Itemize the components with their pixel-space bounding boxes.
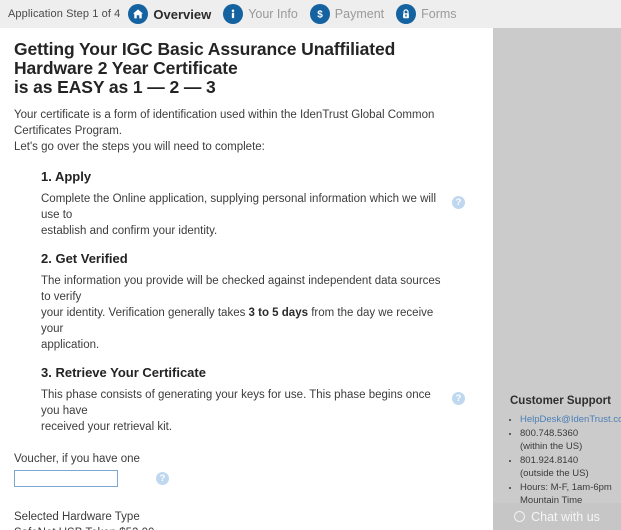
step-tab-payment-label: Payment xyxy=(335,7,384,21)
step-body-retrieve-certificate: This phase consists of generating your k… xyxy=(41,387,441,435)
support-phone-us: 800.748.5360 xyxy=(520,428,578,439)
step-body-apply-line-1: Complete the Online application, supplyi… xyxy=(41,191,441,223)
step-block-get-verified: 2. Get Verified The information you prov… xyxy=(41,251,477,353)
customer-support-title: Customer Support xyxy=(510,395,621,407)
step-body-retrieve-line-1: This phase consists of generating your k… xyxy=(41,387,441,419)
page-title-line-2: Hardware 2 Year Certificate xyxy=(14,59,477,78)
step-body-retrieve-line-2: received your retrieval kit. xyxy=(41,419,441,435)
support-item-email: HelpDesk@IdenTrust.com xyxy=(520,413,621,426)
step-tab-your-info-label: Your Info xyxy=(248,7,298,21)
step-tab-payment[interactable]: $ Payment xyxy=(310,4,384,24)
intro-paragraph: Your certificate is a form of identifica… xyxy=(14,107,477,155)
selected-hardware-type-value: SafeNet USB Token $52.00 xyxy=(14,525,477,530)
main-content: Getting Your IGC Basic Assurance Unaffil… xyxy=(0,28,493,530)
voucher-input[interactable] xyxy=(14,470,118,487)
support-item-phone-intl: 801.924.8140 (outside the US) xyxy=(520,454,621,480)
verification-duration: 3 to 5 days xyxy=(249,307,308,319)
right-sidebar: Customer Support HelpDesk@IdenTrust.com … xyxy=(493,28,621,530)
step-body-verified-line-3: application. xyxy=(41,337,441,353)
voucher-row: ? xyxy=(14,470,477,487)
step-tab-forms[interactable]: Forms xyxy=(396,4,456,24)
chat-with-us-button[interactable]: Chat with us xyxy=(493,503,621,530)
support-hours: Hours: M-F, 1am-6pm xyxy=(520,482,612,493)
chat-with-us-label: Chat with us xyxy=(531,510,600,524)
step-block-retrieve-certificate: 3. Retrieve Your Certificate This phase … xyxy=(41,365,477,435)
step-body-get-verified: The information you provide will be chec… xyxy=(41,273,441,353)
step-tab-your-info[interactable]: Your Info xyxy=(223,4,298,24)
page-title: Getting Your IGC Basic Assurance Unaffil… xyxy=(14,40,477,97)
help-icon-apply[interactable]: ? xyxy=(452,196,465,209)
intro-line-2: Let's go over the steps you will need to… xyxy=(14,139,477,155)
page-title-line-3: is as EASY as 1 — 2 — 3 xyxy=(14,78,477,97)
step-heading-retrieve-certificate: 3. Retrieve Your Certificate xyxy=(41,365,477,380)
lock-icon xyxy=(396,4,416,24)
step-body-verified-line-1: The information you provide will be chec… xyxy=(41,273,441,305)
support-email-link[interactable]: HelpDesk@IdenTrust.com xyxy=(520,414,621,425)
svg-text:$: $ xyxy=(317,10,323,21)
help-icon-retrieve-certificate[interactable]: ? xyxy=(452,392,465,405)
step-tab-overview-label: Overview xyxy=(153,7,211,22)
step-heading-apply: 1. Apply xyxy=(41,169,477,184)
support-item-phone-us: 800.748.5360 (within the US) xyxy=(520,427,621,453)
support-phone-us-note: (within the US) xyxy=(520,440,621,453)
support-phone-intl-note: (outside the US) xyxy=(520,467,621,480)
step-body-apply-line-2: establish and confirm your identity. xyxy=(41,223,441,239)
info-icon xyxy=(223,4,243,24)
step-body-verified-line-2a: your identity. Verification generally ta… xyxy=(41,307,249,319)
step-body-apply: Complete the Online application, supplyi… xyxy=(41,191,441,239)
home-icon xyxy=(128,4,148,24)
intro-line-1: Your certificate is a form of identifica… xyxy=(14,107,477,139)
voucher-section: Voucher, if you have one ? xyxy=(14,453,477,487)
customer-support-list: HelpDesk@IdenTrust.com 800.748.5360 (wit… xyxy=(493,413,621,507)
customer-support-panel: Customer Support HelpDesk@IdenTrust.com … xyxy=(493,395,621,508)
step-navigation-bar: Application Step 1 of 4 Overview Your In… xyxy=(0,0,621,28)
dollar-icon: $ xyxy=(310,4,330,24)
selections-summary: Selected Hardware Type SafeNet USB Token… xyxy=(14,509,477,530)
application-page: Application Step 1 of 4 Overview Your In… xyxy=(0,0,621,530)
help-icon-voucher[interactable]: ? xyxy=(156,472,169,485)
chat-bubble-icon xyxy=(514,511,525,522)
step-heading-get-verified: 2. Get Verified xyxy=(41,251,477,266)
application-progress-label: Application Step 1 of 4 xyxy=(8,8,120,20)
step-tab-forms-label: Forms xyxy=(421,7,456,21)
step-block-apply: 1. Apply Complete the Online application… xyxy=(41,169,477,239)
steps-list: 1. Apply Complete the Online application… xyxy=(14,169,477,435)
voucher-label: Voucher, if you have one xyxy=(14,453,477,465)
step-body-verified-line-2: your identity. Verification generally ta… xyxy=(41,305,441,337)
support-phone-intl: 801.924.8140 xyxy=(520,455,578,466)
step-tab-overview[interactable]: Overview xyxy=(128,4,211,24)
page-title-line-1: Getting Your IGC Basic Assurance Unaffil… xyxy=(14,40,477,59)
selected-hardware-type-label: Selected Hardware Type xyxy=(14,509,477,525)
